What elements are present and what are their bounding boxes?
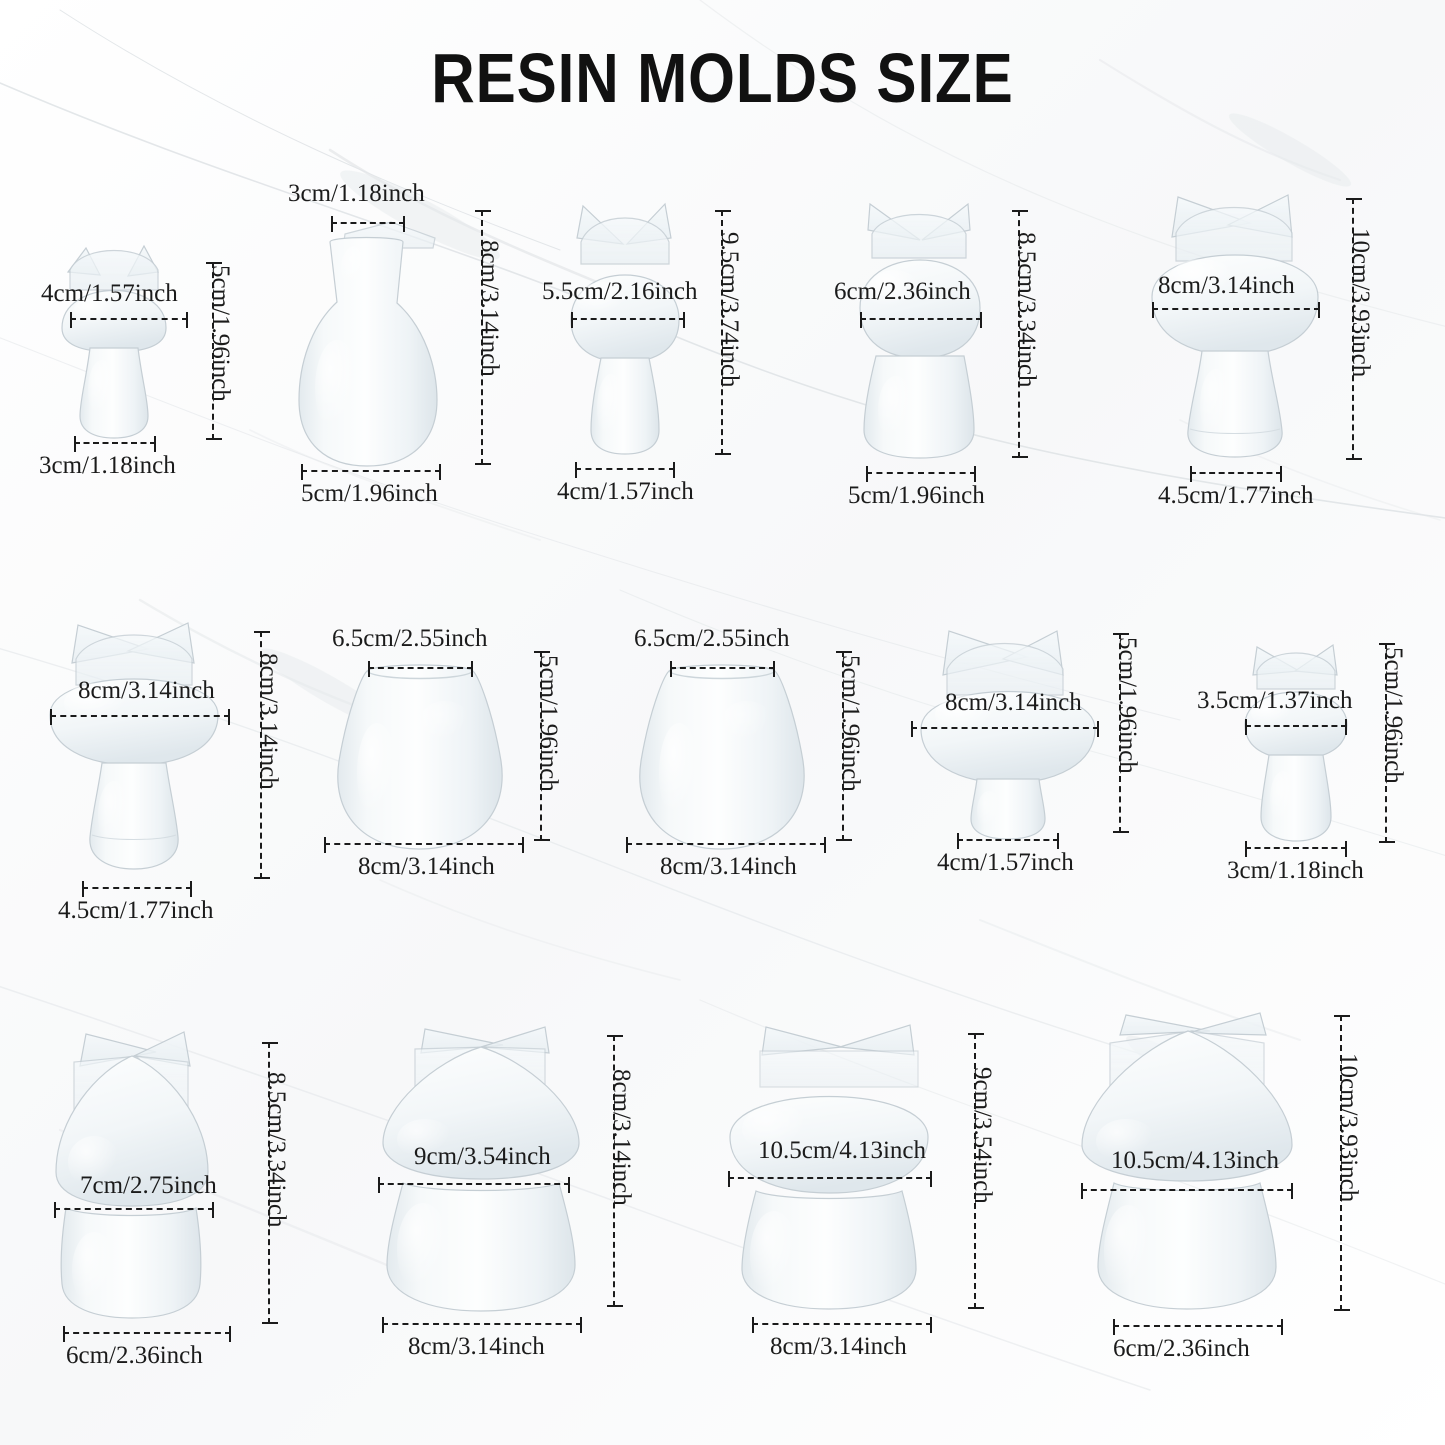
mold-3-top-dimline [571,318,685,320]
mold-8-bottom-label: 8cm/3.14inch [660,853,797,881]
mold-1-bottom-dimline [74,442,156,444]
mold-10-top-dimline [1245,725,1347,727]
mold-11-top-dimline [54,1208,214,1210]
mold-12-bottom-label: 8cm/3.14inch [408,1333,545,1361]
mold-10-bottom-label: 3cm/1.18inch [1227,857,1364,885]
mold-item-12[interactable]: 9cm/3.54inch 8cm/3.14inch 8cm/3.14inch [368,1005,668,1375]
mold-7-side-label: 5cm/1.96inch [534,655,562,792]
mold-item-14[interactable]: 10.5cm/4.13inch 10cm/3.93inch 6cm/2.36in… [1065,995,1385,1375]
mold-3-bottom-label: 4cm/1.57inch [557,478,694,506]
mold-13-illustration [722,1017,967,1317]
mold-14-bottom-label: 6cm/2.36inch [1113,1335,1250,1363]
mold-11-top-label: 7cm/2.75inch [80,1172,217,1200]
mold-7-bottom-dimline [324,843,524,845]
mold-13-top-dimline [728,1177,932,1179]
mold-8-top-dimline [670,667,775,669]
mold-10-bottom-dimline [1245,847,1347,849]
mold-7-bottom-label: 8cm/3.14inch [358,853,495,881]
mold-13-top-label: 10.5cm/4.13inch [758,1137,926,1165]
mold-9-side-label: 5cm/1.96inch [1113,637,1141,774]
mold-13-bottom-label: 8cm/3.14inch [770,1333,907,1361]
mold-6-side-label: 8cm/3.14inch [254,653,282,790]
mold-8-side-label: 5cm/1.96inch [836,655,864,792]
mold-10-side-label: 5cm/1.96inch [1379,647,1407,784]
mold-3-bottom-dimline [575,468,675,470]
mold-6-bottom-dimline [82,887,192,889]
mold-4-bottom-label: 5cm/1.96inch [848,482,985,510]
mold-2-side-label: 8cm/3.14inch [475,240,503,377]
mold-item-7[interactable]: 6.5cm/2.55inch 5cm/1.96inch 8cm/3.14inch [310,625,580,895]
mold-4-top-dimline [860,318,982,320]
mold-9-top-dimline [911,727,1099,729]
mold-14-side-label: 10cm/3.93inch [1334,1053,1362,1202]
mold-5-top-dimline [1152,308,1320,310]
mold-6-illustration [30,615,255,880]
mold-12-bottom-dimline [382,1323,582,1325]
mold-9-bottom-dimline [957,839,1059,841]
mold-5-side-label: 10cm/3.93inch [1346,228,1374,377]
mold-item-1[interactable]: 4cm/1.57inch 5cm/1.96inch 3cm/1.18inch [40,230,280,500]
mold-5-bottom-dimline [1190,472,1282,474]
mold-14-bottom-dimline [1113,1325,1283,1327]
mold-item-11[interactable]: 7cm/2.75inch 8.5cm/3.34inch 6cm/2.36inch [28,1010,318,1370]
mold-item-5[interactable]: 8cm/3.14inch 10cm/3.93inch 4.5cm/1.77inc… [1140,180,1440,500]
mold-14-top-dimline [1081,1189,1293,1191]
mold-item-4[interactable]: 6cm/2.36inch 8.5cm/3.34inch 5cm/1.96inch [838,190,1118,500]
mold-item-3[interactable]: 5.5cm/2.16inch 9.5cm/3.74inch 4cm/1.57in… [545,190,815,500]
mold-5-bottom-label: 4.5cm/1.77inch [1158,482,1314,510]
mold-item-2[interactable]: 3cm/1.18inch 8cm/3.14inch 5cm/1.96inch [285,180,535,500]
mold-item-10[interactable]: 3.5cm/1.37inch 5cm/1.96inch 3cm/1.18inch [1195,625,1445,895]
mold-item-13[interactable]: 10.5cm/4.13inch 9cm/3.54inch 8cm/3.14inc… [722,1005,1022,1375]
page-title: RESIN MOLDS SIZE [101,38,1344,118]
mold-6-top-label: 8cm/3.14inch [78,677,215,705]
mold-6-bottom-label: 4.5cm/1.77inch [58,897,214,925]
mold-2-bottom-dimline [301,470,441,472]
mold-4-bottom-dimline [866,472,976,474]
mold-10-illustration [1225,633,1375,848]
mold-11-bottom-label: 6cm/2.36inch [66,1342,203,1370]
mold-12-side-label: 8cm/3.14inch [607,1069,635,1206]
mold-7-illustration [315,653,530,868]
mold-12-top-label: 9cm/3.54inch [414,1143,551,1171]
mold-item-6[interactable]: 8cm/3.14inch 8cm/3.14inch 4.5cm/1.77inch [20,615,310,915]
mold-13-bottom-dimline [752,1323,932,1325]
mold-1-top-dimline [70,318,188,320]
mold-5-illustration [1140,185,1355,465]
mold-8-bottom-dimline [626,843,826,845]
mold-5-top-label: 8cm/3.14inch [1158,272,1295,300]
mold-7-top-dimline [368,667,473,669]
mold-3-illustration [545,198,725,463]
mold-11-side-label: 8.5cm/3.34inch [262,1072,290,1228]
mold-3-side-label: 9.5cm/3.74inch [715,232,743,388]
mold-1-illustration [40,230,200,445]
mold-item-8[interactable]: 6.5cm/2.55inch 5cm/1.96inch 8cm/3.14inch [612,625,882,895]
mold-9-bottom-label: 4cm/1.57inch [937,849,1074,877]
mold-2-top-label: 3cm/1.18inch [288,180,425,208]
mold-2-illustration [285,208,465,478]
mold-1-side-label: 5cm/1.96inch [206,265,234,402]
mold-8-top-label: 6.5cm/2.55inch [634,625,790,653]
mold-4-illustration [838,198,1023,463]
mold-7-top-label: 6.5cm/2.55inch [332,625,488,653]
mold-item-9[interactable]: 8cm/3.14inch 5cm/1.96inch 4cm/1.57inch [915,615,1175,905]
mold-10-top-label: 3.5cm/1.37inch [1197,687,1353,715]
mold-2-top-dimline [331,222,405,224]
mold-1-bottom-label: 3cm/1.18inch [39,452,176,480]
mold-3-top-label: 5.5cm/2.16inch [542,278,698,306]
mold-6-top-dimline [50,715,230,717]
mold-14-top-label: 10.5cm/4.13inch [1111,1147,1279,1175]
mold-9-top-label: 8cm/3.14inch [945,689,1082,717]
mold-4-side-label: 8.5cm/3.34inch [1012,232,1040,388]
mold-13-side-label: 9cm/3.54inch [968,1067,996,1204]
mold-2-bottom-label: 5cm/1.96inch [301,480,438,508]
mold-1-top-label: 4cm/1.57inch [41,280,178,308]
mold-8-illustration [617,653,832,868]
mold-12-top-dimline [378,1183,570,1185]
mold-4-top-label: 6cm/2.36inch [834,278,971,306]
mold-11-bottom-dimline [63,1332,231,1334]
